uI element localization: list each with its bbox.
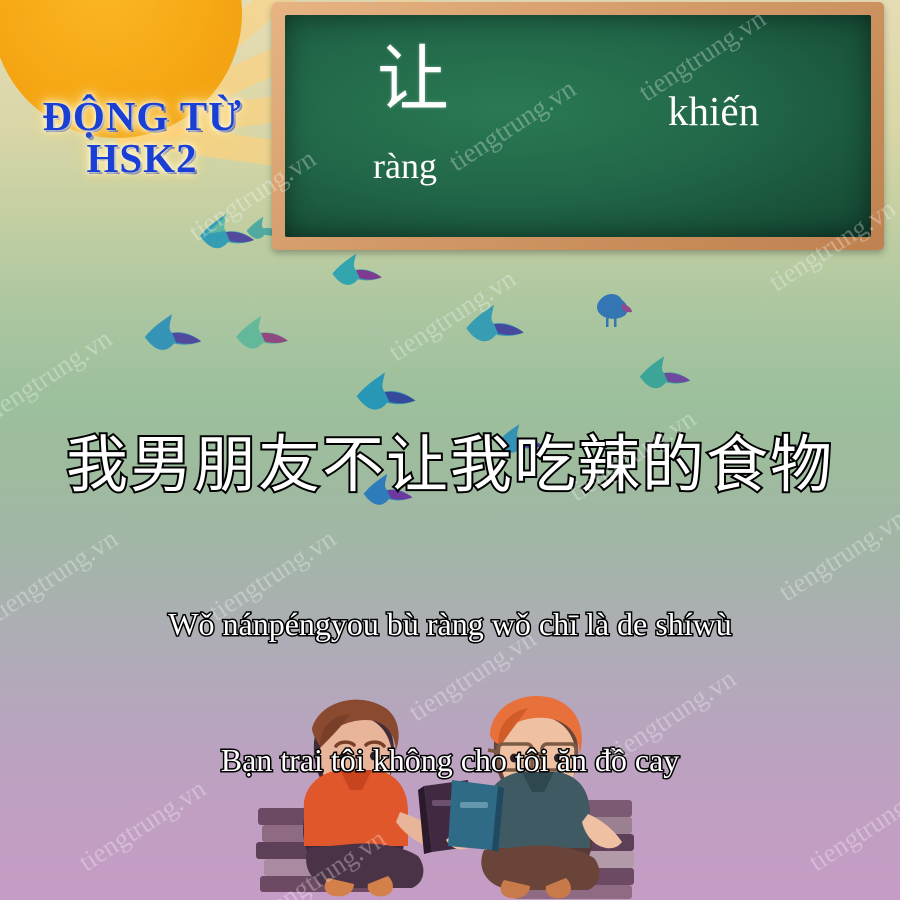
vocab-hanzi: 让 bbox=[377, 43, 449, 115]
flying-bird-icon bbox=[328, 250, 386, 292]
watermark: tiengtrung.vn bbox=[0, 323, 118, 428]
chalkboard-surface: 让 ràng khiến bbox=[285, 15, 871, 237]
flying-bird-icon bbox=[352, 368, 420, 418]
example-vietnamese: Bạn trai tôi không cho tôi ăn đồ cay bbox=[0, 742, 900, 779]
flying-bird-icon bbox=[232, 312, 292, 356]
vocab-pinyin: ràng bbox=[373, 145, 437, 187]
logo-line-1: ĐỘNG TỪ bbox=[8, 96, 276, 138]
chalkboard: 让 ràng khiến bbox=[272, 2, 884, 250]
watermark: tiengtrung.vn bbox=[773, 503, 900, 608]
flying-bird-icon bbox=[462, 300, 528, 350]
flying-bird-icon bbox=[140, 310, 206, 358]
book-right-held bbox=[448, 780, 504, 852]
logo-line-2: HSK2 bbox=[8, 138, 276, 180]
brand-logo: ĐỘNG TỪ HSK2 bbox=[8, 96, 276, 180]
flying-bird-icon bbox=[636, 352, 694, 396]
watermark: tiengtrung.vn bbox=[73, 773, 211, 878]
perched-bird-icon bbox=[588, 288, 634, 332]
example-pinyin: Wǒ nánpéngyou bù ràng wǒ chī là de shíwù bbox=[0, 606, 900, 643]
watermark: tiengtrung.vn bbox=[803, 773, 900, 878]
vocab-vietnamese: khiến bbox=[668, 87, 759, 135]
example-hanzi: 我男朋友不让我吃辣的食物 bbox=[0, 414, 900, 504]
lesson-card: ĐỘNG TỪ HSK2 让 ràng khiến bbox=[0, 0, 900, 900]
